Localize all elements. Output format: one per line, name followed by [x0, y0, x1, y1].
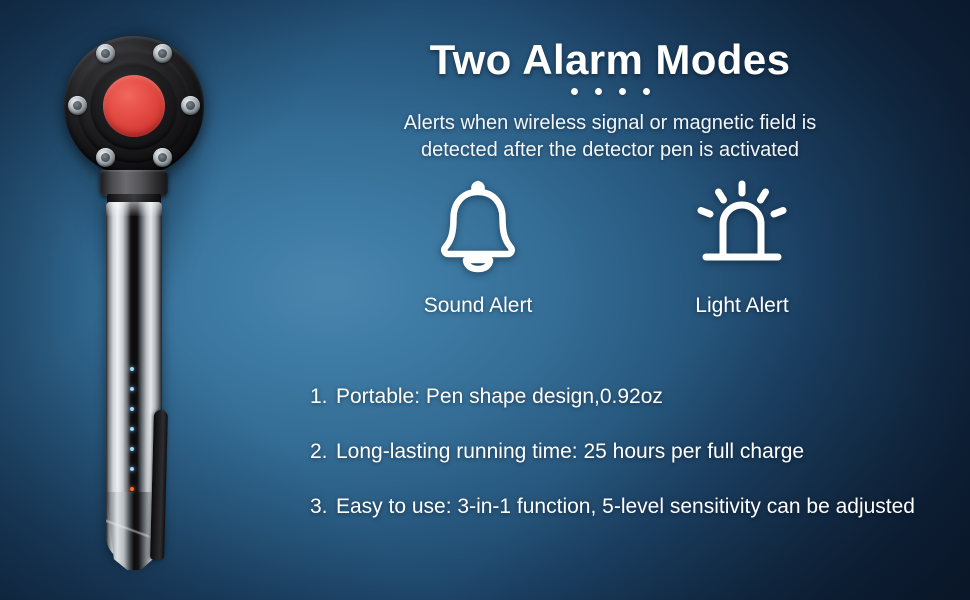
- product-image-detector-pen: [52, 22, 232, 582]
- feature-number: 3.: [310, 492, 336, 521]
- detector-led-6: [153, 148, 172, 167]
- detector-neck-collar: [100, 170, 168, 196]
- divider-dot: [571, 88, 578, 95]
- detector-head-red-lens: [103, 75, 165, 137]
- detector-led-5: [96, 148, 115, 167]
- feature-text: Portable: Pen shape design,0.92oz: [336, 382, 960, 411]
- feature-item: 2.Long-lasting running time: 25 hours pe…: [310, 437, 960, 466]
- pen-indicator-light: [130, 367, 134, 371]
- divider-dot: [643, 88, 650, 95]
- alert-mode-sound: Sound Alert: [388, 172, 568, 318]
- detector-led-2: [153, 44, 172, 63]
- page-title: Two Alarm Modes: [250, 36, 970, 84]
- pen-indicator-light: [130, 427, 134, 431]
- product-feature-banner: Two Alarm Modes Alerts when wireless sig…: [0, 0, 970, 600]
- pen-indicator-light: [130, 407, 134, 411]
- feature-number: 1.: [310, 382, 336, 411]
- alert-mode-sound-label: Sound Alert: [388, 294, 568, 318]
- pen-indicator-light: [130, 467, 134, 471]
- detector-led-3: [68, 96, 87, 115]
- subtitle-line-2: detected after the detector pen is activ…: [250, 137, 970, 164]
- feature-text: Long-lasting running time: 25 hours per …: [336, 437, 960, 466]
- feature-item: 3.Easy to use: 3-in-1 function, 5-level …: [310, 492, 960, 521]
- subtitle-line-1: Alerts when wireless signal or magnetic …: [250, 110, 970, 137]
- siren-light-icon: [652, 172, 832, 280]
- divider-dots: [250, 88, 970, 95]
- page-subtitle: Alerts when wireless signal or magnetic …: [250, 110, 970, 164]
- alert-modes-group: Sound Alert Light Alert: [388, 172, 832, 318]
- alert-mode-light: Light Alert: [652, 172, 832, 318]
- feature-item: 1.Portable: Pen shape design,0.92oz: [310, 382, 960, 411]
- feature-text: Easy to use: 3-in-1 function, 5-level se…: [336, 492, 960, 521]
- divider-dot: [619, 88, 626, 95]
- feature-number: 2.: [310, 437, 336, 466]
- divider-dot: [595, 88, 602, 95]
- alert-mode-light-label: Light Alert: [652, 294, 832, 318]
- detector-led-1: [96, 44, 115, 63]
- content-panel: Two Alarm Modes Alerts when wireless sig…: [250, 0, 970, 600]
- feature-list: 1.Portable: Pen shape design,0.92oz2.Lon…: [310, 382, 960, 547]
- detector-head: [64, 36, 204, 176]
- pen-barrel-highlight: [106, 202, 162, 216]
- detector-led-4: [181, 96, 200, 115]
- pen-indicator-light: [130, 387, 134, 391]
- pen-indicator-light: [130, 487, 134, 491]
- pen-indicator-light: [130, 447, 134, 451]
- bell-icon: [388, 172, 568, 280]
